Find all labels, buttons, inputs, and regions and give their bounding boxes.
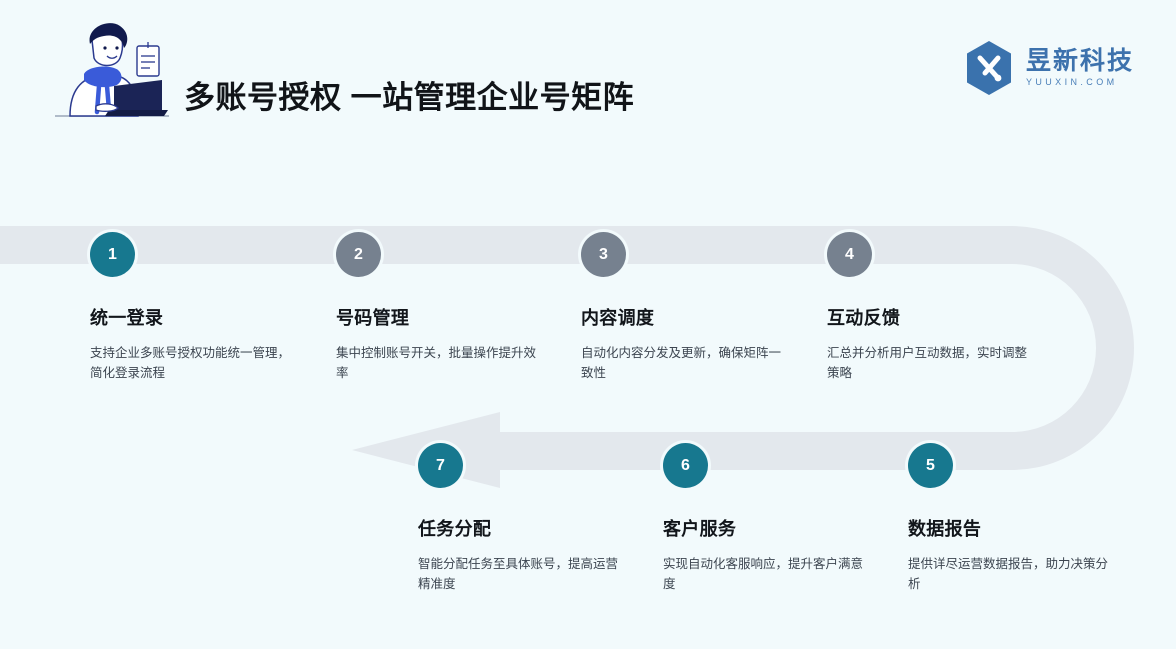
step-1-badge: 1 (90, 232, 135, 277)
step-6-title: 客户服务 (663, 515, 878, 541)
step-4[interactable]: 4 互动反馈 汇总并分析用户互动数据，实时调整策略 (827, 232, 1042, 384)
step-7-title: 任务分配 (418, 515, 633, 541)
step-3[interactable]: 3 内容调度 自动化内容分发及更新，确保矩阵一致性 (581, 232, 796, 384)
step-2[interactable]: 2 号码管理 集中控制账号开关，批量操作提升效率 (336, 232, 551, 384)
step-7[interactable]: 7 任务分配 智能分配任务至具体账号，提高运营精准度 (418, 443, 633, 595)
step-3-badge: 3 (581, 232, 626, 277)
brand-name-cn: 昱新科技 (1026, 49, 1134, 74)
hexagon-x-logo-icon (963, 40, 1015, 96)
step-3-desc: 自动化内容分发及更新，确保矩阵一致性 (581, 343, 786, 384)
step-4-badge: 4 (827, 232, 872, 277)
step-1-desc: 支持企业多账号授权功能统一管理，简化登录流程 (90, 343, 295, 384)
brand-name-en: YUUXIN.COM (1026, 78, 1134, 87)
step-1-title: 统一登录 (90, 304, 305, 330)
step-5[interactable]: 5 数据报告 提供详尽运营数据报告，助力决策分析 (908, 443, 1123, 595)
step-6-badge: 6 (663, 443, 708, 488)
page-title: 多账号授权 一站管理企业号矩阵 (184, 72, 634, 117)
step-1[interactable]: 1 统一登录 支持企业多账号授权功能统一管理，简化登录流程 (90, 232, 305, 384)
step-2-badge: 2 (336, 232, 381, 277)
step-7-badge: 7 (418, 443, 463, 488)
step-2-title: 号码管理 (336, 304, 551, 330)
step-4-desc: 汇总并分析用户互动数据，实时调整策略 (827, 343, 1032, 384)
step-7-desc: 智能分配任务至具体账号，提高运营精准度 (418, 554, 623, 595)
step-4-title: 互动反馈 (827, 304, 1042, 330)
step-6-desc: 实现自动化客服响应，提升客户满意度 (663, 554, 868, 595)
step-3-title: 内容调度 (581, 304, 796, 330)
step-5-title: 数据报告 (908, 515, 1123, 541)
slide-canvas: 多账号授权 一站管理企业号矩阵 昱新科技 YUUXIN.COM 1 统一登 (0, 0, 1176, 649)
step-2-desc: 集中控制账号开关，批量操作提升效率 (336, 343, 541, 384)
step-5-desc: 提供详尽运营数据报告，助力决策分析 (908, 554, 1113, 595)
brand-logo: 昱新科技 YUUXIN.COM (963, 40, 1134, 96)
slide-header: 多账号授权 一站管理企业号矩阵 昱新科技 YUUXIN.COM (0, 0, 1176, 150)
step-5-badge: 5 (908, 443, 953, 488)
person-at-laptop-illustration (52, 18, 172, 130)
step-6[interactable]: 6 客户服务 实现自动化客服响应，提升客户满意度 (663, 443, 878, 595)
